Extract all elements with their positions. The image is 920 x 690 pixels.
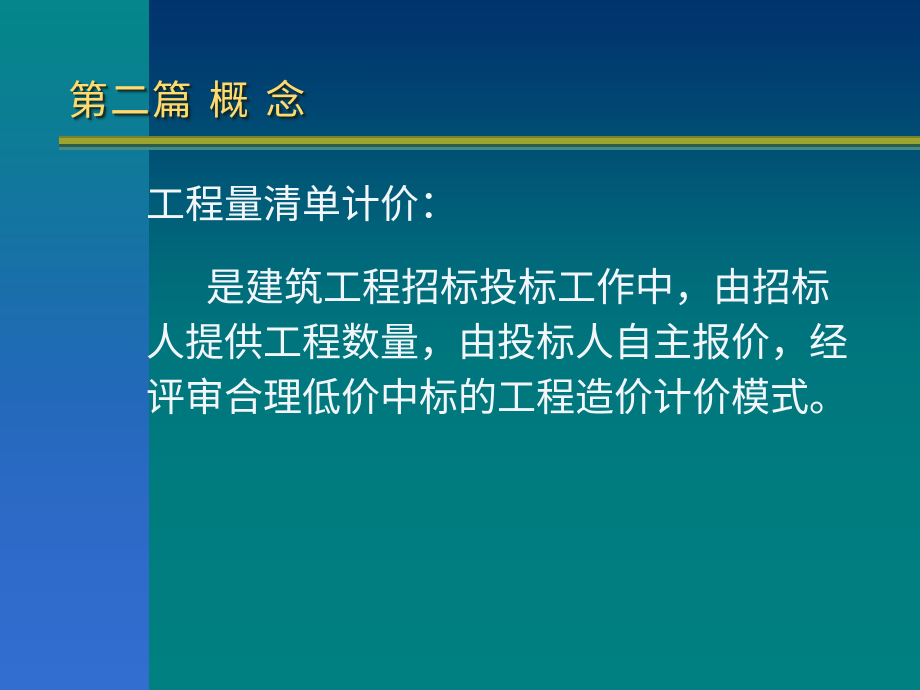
body-heading-line: 工程量清单计价： [146, 178, 906, 233]
slide-body-text: 工程量清单计价： 是建筑工程招标投标工作中，由招标 人提供工程数量，由投标人自主… [146, 178, 906, 426]
slide-title: 第二篇 概 念 [68, 78, 307, 124]
body-paragraph-line-3: 评审合理低价中标的工程造价计价模式。 [146, 371, 906, 426]
presentation-slide: 第二篇 概 念 工程量清单计价： 是建筑工程招标投标工作中，由招标 人提供工程数… [0, 0, 920, 690]
body-paragraph-line-2: 人提供工程数量，由投标人自主报价，经 [146, 316, 906, 371]
body-paragraph-line-1: 是建筑工程招标投标工作中，由招标 [146, 261, 906, 316]
title-divider-rule [59, 136, 920, 151]
divider-band-teal [59, 147, 920, 150]
slide-title-block: 第二篇 概 念 [68, 78, 307, 124]
